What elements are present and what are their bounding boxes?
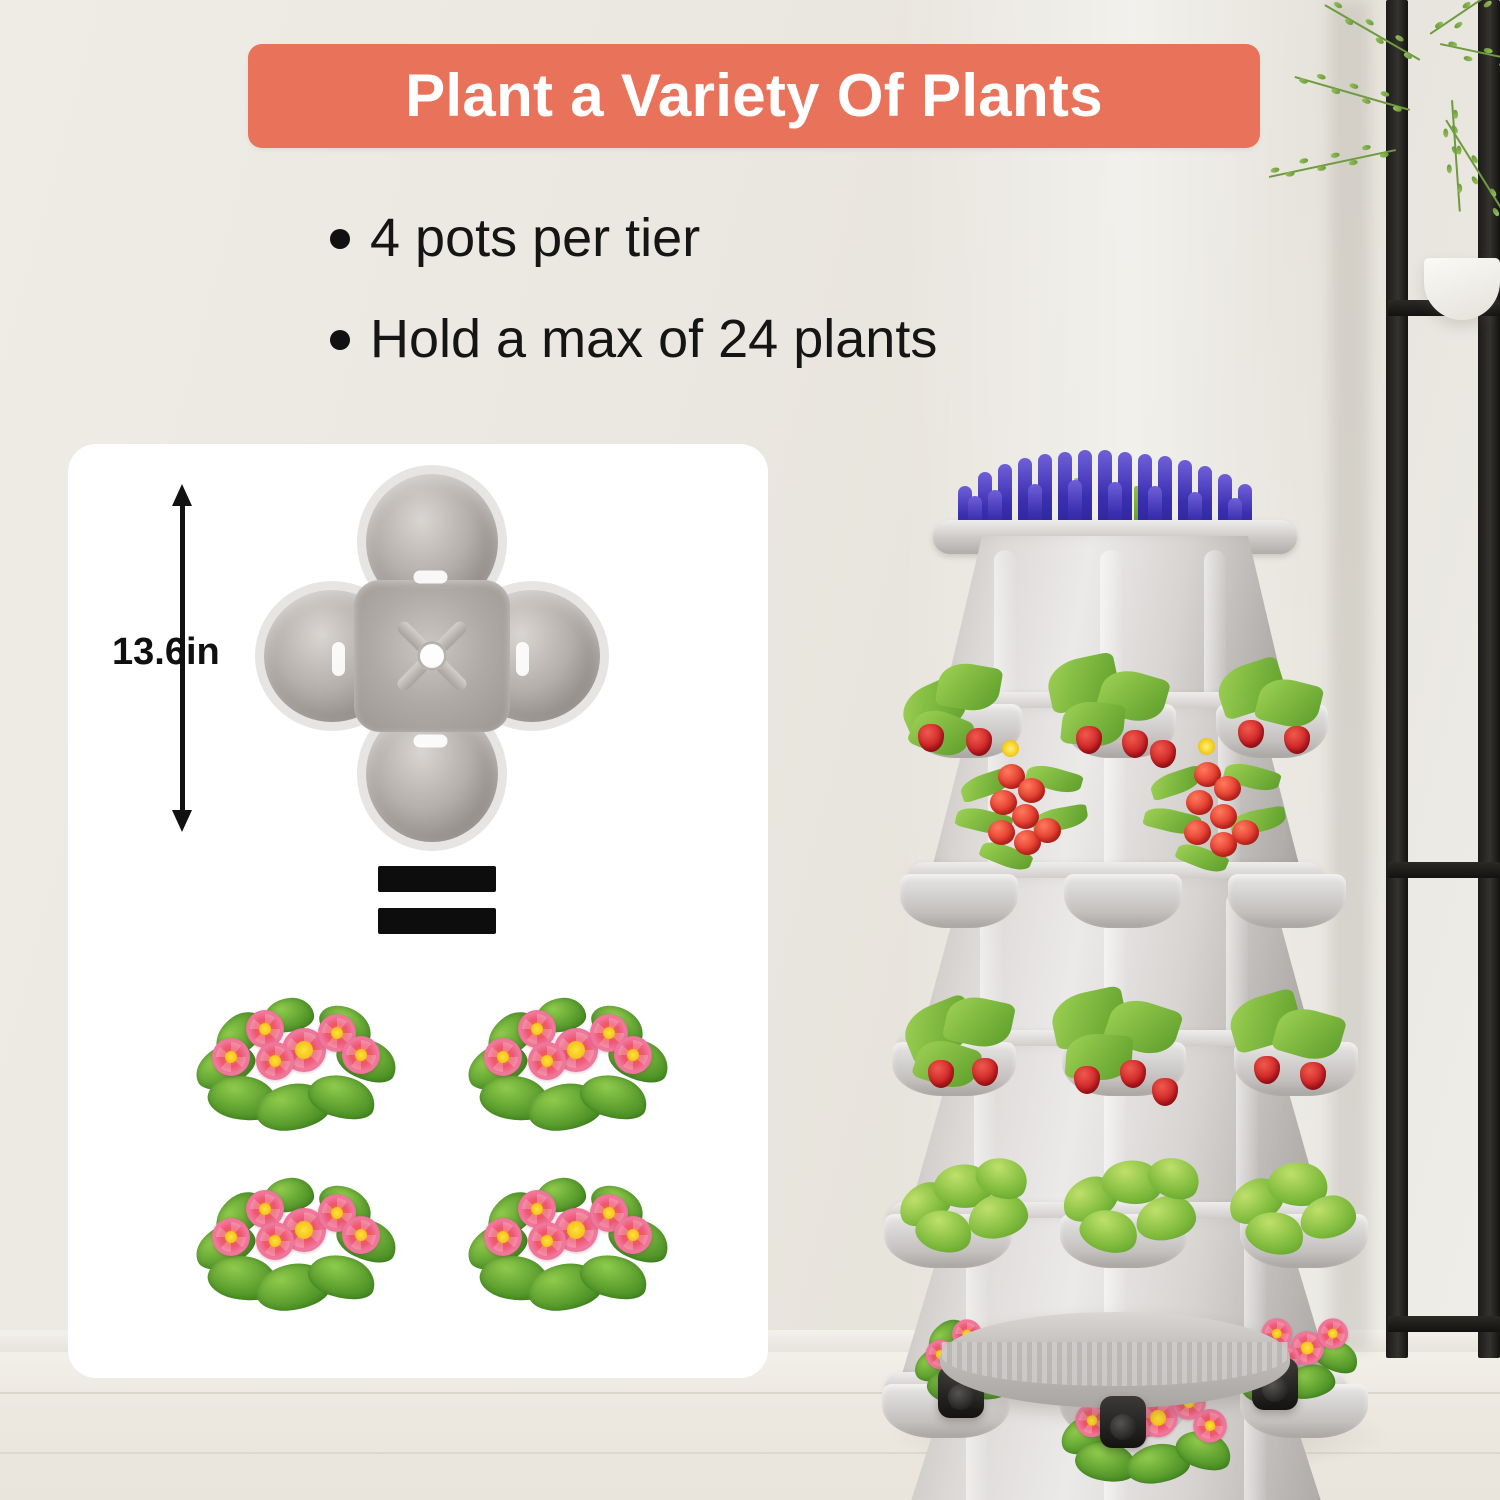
fruit-strawberry	[1254, 1056, 1280, 1084]
plant-cherry-tomato	[954, 738, 1294, 888]
list-item: 4 pots per tier	[330, 210, 1210, 267]
feature-bullet-list: 4 pots per tier Hold a max of 24 plants	[330, 210, 1210, 412]
bullet-dot-icon	[330, 330, 350, 350]
drain-slot	[332, 642, 345, 676]
flower	[1318, 1318, 1348, 1348]
title-banner: Plant a Variety Of Plants	[248, 44, 1260, 148]
fruit-tomato	[1034, 818, 1061, 843]
equals-sign-icon	[378, 866, 496, 934]
flower	[484, 1218, 522, 1256]
fruit-strawberry	[1152, 1078, 1178, 1106]
list-item: Hold a max of 24 plants	[330, 311, 1210, 368]
shelf-rail-bottom	[1388, 1316, 1500, 1332]
drain-slot	[414, 735, 448, 748]
plant-strawberry	[880, 974, 1350, 1106]
infographic-canvas: Plant a Variety Of Plants 4 pots per tie…	[0, 0, 1500, 1500]
plant-tile	[190, 1160, 400, 1310]
flower	[256, 1222, 294, 1260]
drain-slot	[516, 642, 529, 676]
arrow-head-down-icon	[172, 810, 192, 832]
drain-slot	[414, 571, 448, 584]
equals-bar-top	[378, 866, 496, 892]
fruit-tomato	[1018, 778, 1045, 803]
dimension-label: 13.6in	[112, 631, 220, 674]
equals-bar-bottom	[378, 908, 496, 934]
fruit-tomato	[988, 820, 1015, 845]
fern-plant	[1300, 0, 1500, 280]
flower	[212, 1218, 250, 1256]
product-tower	[880, 450, 1350, 1460]
planter-center-hub	[354, 580, 510, 732]
drain-hole-icon	[417, 641, 447, 671]
bullet-label: Hold a max of 24 plants	[370, 311, 937, 368]
fruit-strawberry	[972, 1058, 998, 1086]
flower	[528, 1042, 566, 1080]
fruit-strawberry	[1074, 1066, 1100, 1094]
flower	[614, 1216, 652, 1254]
flower	[342, 1216, 380, 1254]
fruit-tomato	[1186, 790, 1213, 815]
flower-yellow	[1002, 740, 1019, 757]
bullet-label: 4 pots per tier	[370, 210, 700, 267]
bullet-dot-icon	[330, 229, 350, 249]
fruit-tomato	[1232, 820, 1259, 845]
flower	[212, 1038, 250, 1076]
plant-tile	[462, 1160, 672, 1310]
flower-yellow	[1198, 738, 1215, 755]
shelf-rail-middle	[1388, 862, 1500, 878]
fruit-strawberry	[1300, 1062, 1326, 1090]
plant-basil	[880, 1144, 1360, 1268]
fruit-tomato	[1214, 776, 1241, 801]
plant-tile	[190, 980, 400, 1130]
flower	[484, 1038, 522, 1076]
flower	[342, 1036, 380, 1074]
flower	[614, 1036, 652, 1074]
banner-title-text: Plant a Variety Of Plants	[405, 66, 1103, 126]
fruit-strawberry	[1120, 1060, 1146, 1088]
planter-top-view	[262, 472, 602, 844]
caster-wheel	[1100, 1396, 1146, 1448]
fruit-tomato	[1184, 820, 1211, 845]
plant-tile	[462, 980, 672, 1130]
flower	[256, 1042, 294, 1080]
flower	[528, 1222, 566, 1260]
flower	[1193, 1409, 1226, 1442]
